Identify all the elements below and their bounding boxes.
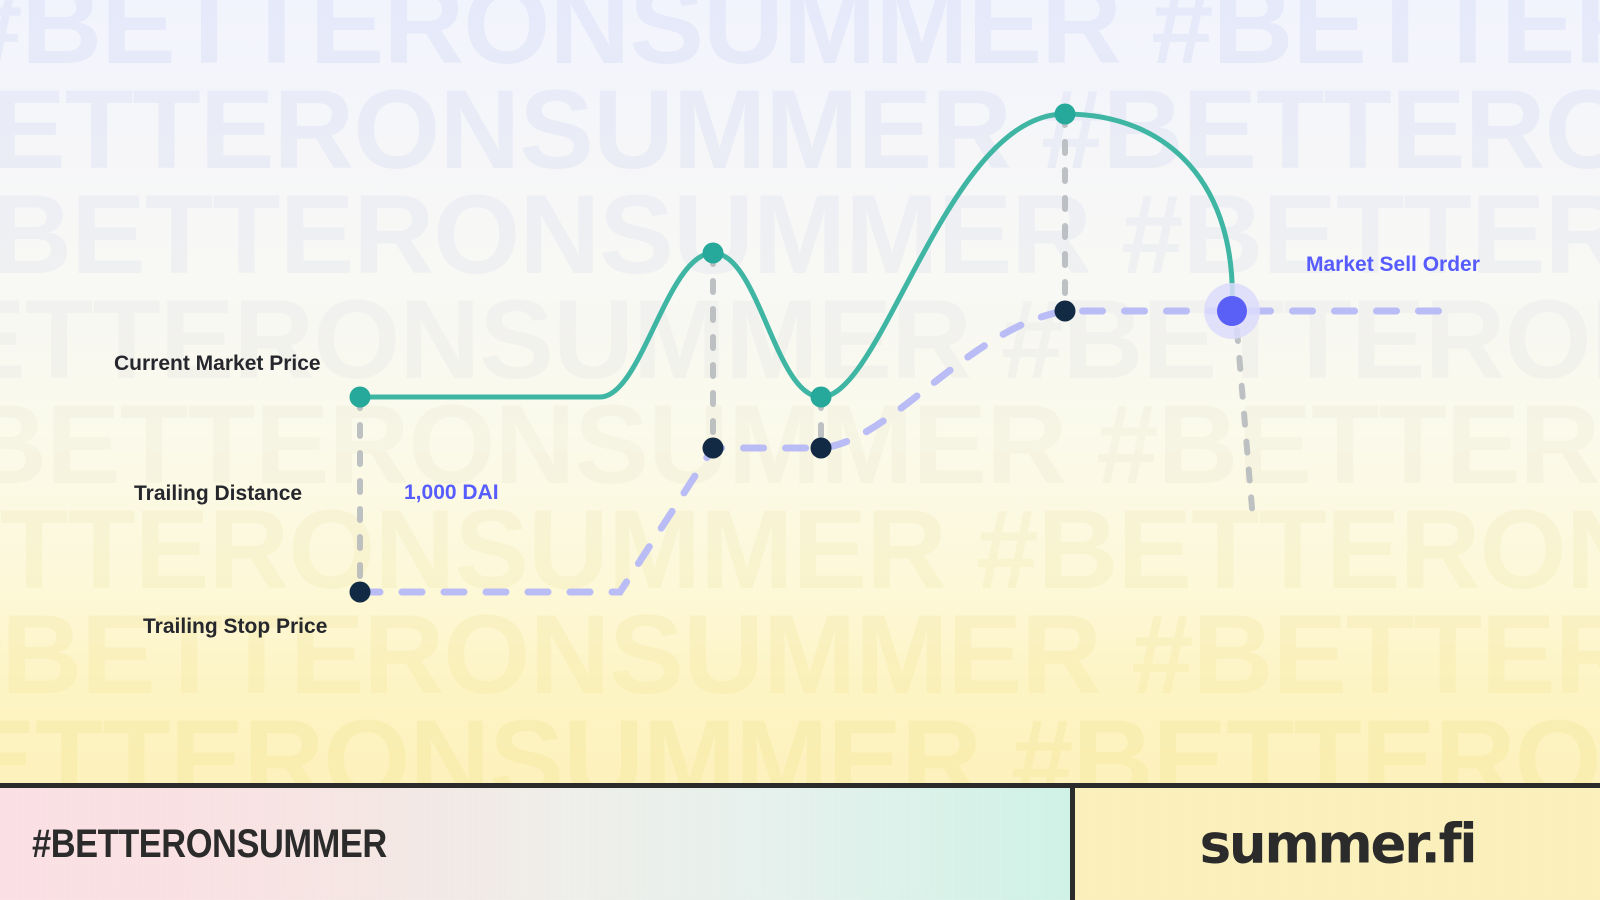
infographic-page: #BETTERONSUMMER #BETTERONSUMMER #BETTERO… [0,0,1600,900]
label-trailing-distance: Trailing Distance [134,482,302,506]
label-market-sell-order: Market Sell Order [1306,253,1480,277]
footer-hashtag-panel: #BETTERONSUMMER [0,788,1070,900]
order-marker-group[interactable] [1204,283,1260,339]
connector-group [360,114,1253,592]
label-distance-value: 1,000 DAI [404,481,499,505]
trailing-stop-chart [0,0,1600,783]
market-price-dots [350,104,1076,408]
footer-hashtag-text: #BETTERONSUMMER [32,822,387,867]
footer-logo-panel[interactable]: summer.fi [1070,788,1600,900]
summerfi-logo: summer.fi [1200,813,1476,875]
footer-bar: #BETTERONSUMMER summer.fi [0,783,1600,900]
market-price-line [360,114,1232,397]
trailing-stop-line [360,311,1460,592]
label-current-market-price: Current Market Price [114,352,321,376]
label-trailing-stop-price: Trailing Stop Price [143,615,327,639]
chart-canvas: #BETTERONSUMMER #BETTERONSUMMER #BETTERO… [0,0,1600,783]
